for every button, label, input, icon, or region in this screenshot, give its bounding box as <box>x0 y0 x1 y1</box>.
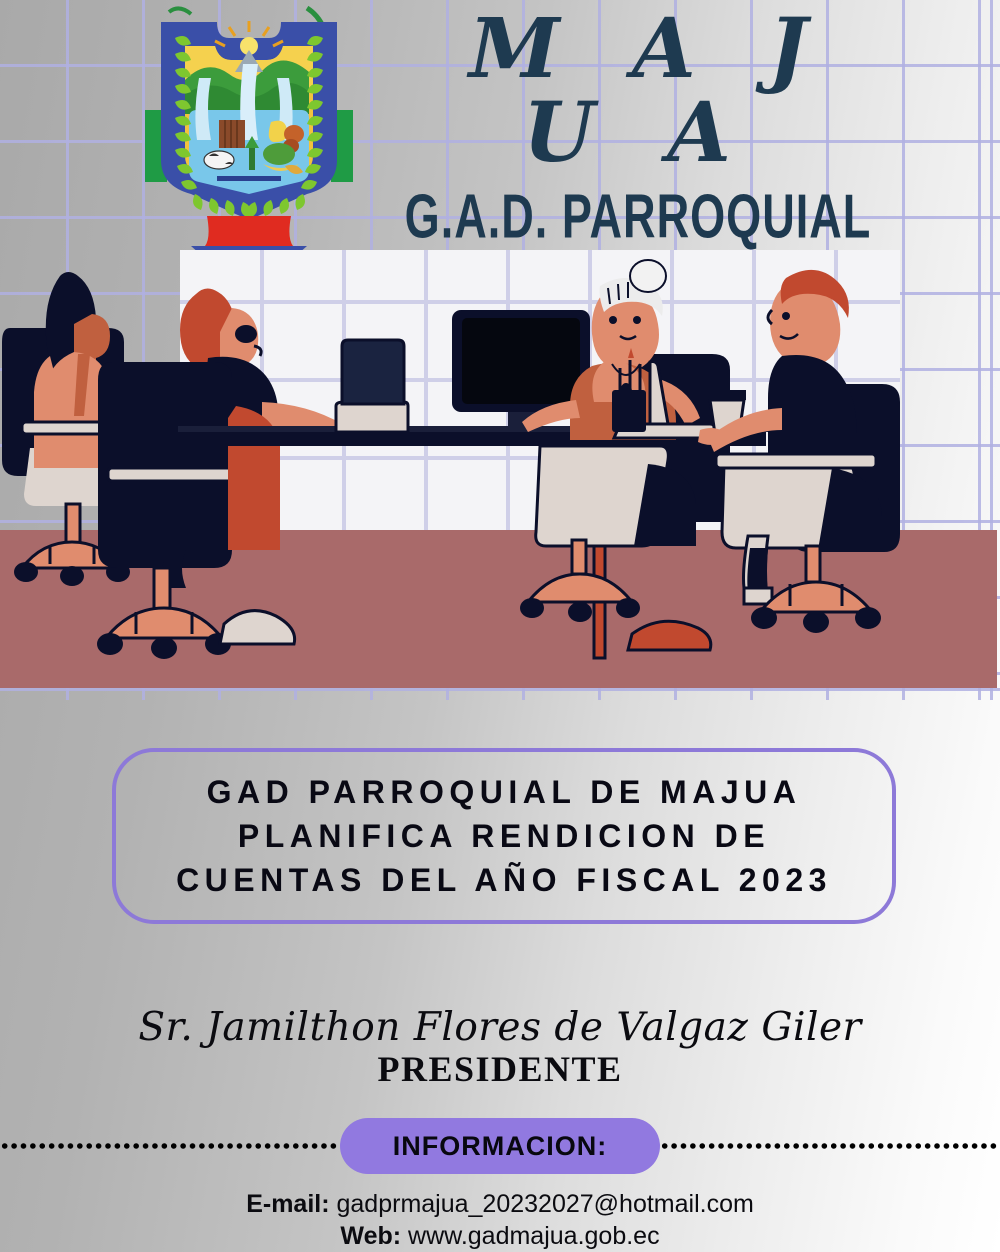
coat-of-arms-icon <box>139 2 359 264</box>
email-line: E-mail: gadprmajua_20232027@hotmail.com <box>0 1188 1000 1220</box>
information-strip: INFORMACION: <box>0 1118 1000 1174</box>
office-meeting-illustration <box>0 250 1000 690</box>
org-subtitle: G.A.D. PARROQUIAL <box>383 185 893 247</box>
email-value[interactable]: gadprmajua_20232027@hotmail.com <box>337 1190 754 1218</box>
poster-canvas: M A J U A G.A.D. PARROQUIAL PERIODO 2023… <box>0 0 1000 1252</box>
signature-block: Sr. Jamilthon Flores de Valgaz Giler PRE… <box>0 1008 1000 1089</box>
president-name: Sr. Jamilthon Flores de Valgaz Giler <box>0 1008 1000 1049</box>
information-badge: INFORMACION: <box>340 1118 660 1174</box>
headline-text: GAD PARROQUIAL DE MAJUA PLANIFICA RENDIC… <box>176 770 832 902</box>
headline-card: GAD PARROQUIAL DE MAJUA PLANIFICA RENDIC… <box>112 748 896 924</box>
org-name: M A J U A <box>378 8 898 175</box>
header: M A J U A G.A.D. PARROQUIAL PERIODO 2023… <box>0 0 1000 265</box>
web-line: Web: www.gadmajua.gob.ec <box>0 1220 1000 1252</box>
dotted-rule-left <box>0 1142 340 1150</box>
web-value[interactable]: www.gadmajua.gob.ec <box>408 1222 660 1250</box>
web-label: Web: <box>340 1222 401 1250</box>
contact-block: E-mail: gadprmajua_20232027@hotmail.com … <box>0 1188 1000 1252</box>
email-label: E-mail: <box>246 1190 329 1218</box>
dotted-rule-right <box>660 1142 1000 1150</box>
president-role: PRESIDENTE <box>0 1051 1000 1089</box>
